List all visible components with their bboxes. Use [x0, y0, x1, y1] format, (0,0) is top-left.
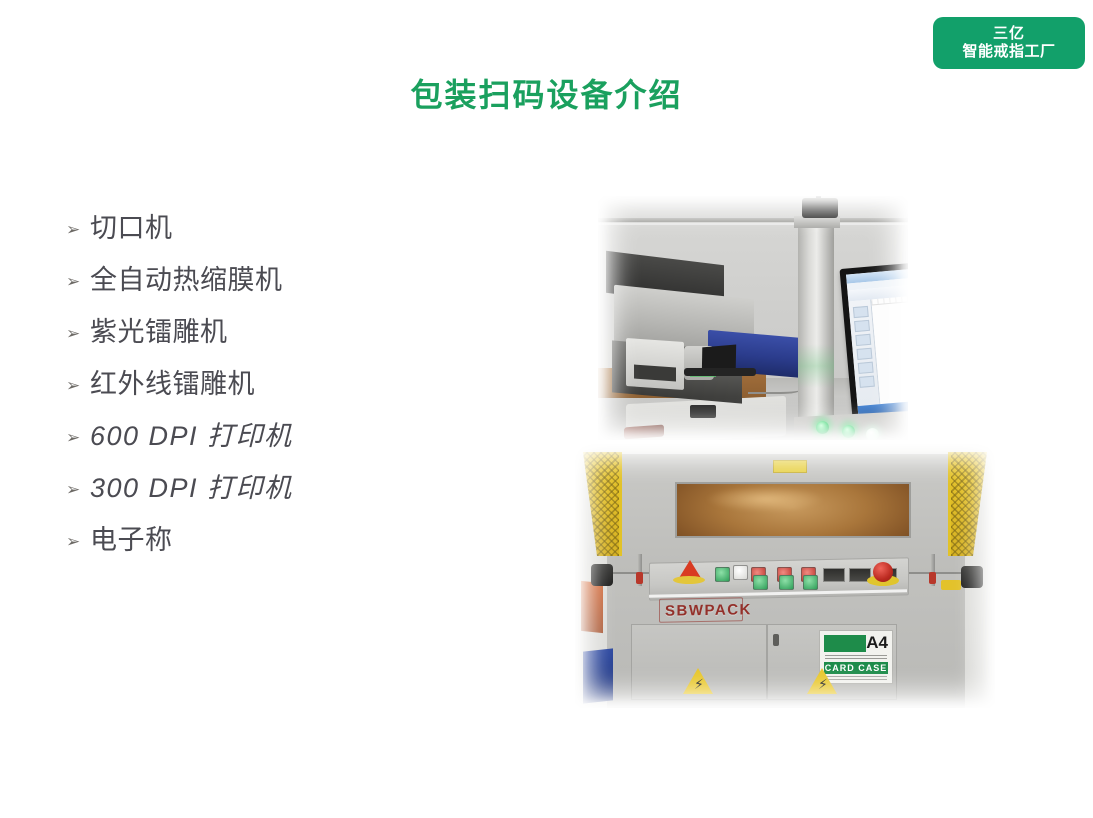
photo-panel-swatch — [859, 376, 875, 388]
electrical-hazard-icon: ⚡ — [683, 668, 713, 694]
chevron-right-icon: ➢ — [60, 377, 90, 394]
photo-panel-swatch — [855, 334, 871, 346]
list-item-label: 红外线镭雕机 — [90, 369, 255, 400]
photo-blue-crate — [583, 648, 613, 703]
photo-indicator-light — [816, 421, 829, 434]
photo-vertical-column — [798, 224, 834, 440]
photo-indicator-light — [866, 428, 879, 440]
chevron-right-icon: ➢ — [60, 533, 90, 550]
list-item: ➢ 紫光镭雕机 — [60, 307, 530, 359]
photo-emergency-stop-button — [873, 562, 893, 582]
list-item: ➢ 300 DPI 打印机 — [60, 463, 530, 515]
list-item: ➢ 600 DPI 打印机 — [60, 411, 530, 463]
chevron-right-icon: ➢ — [60, 481, 90, 498]
photo-red-beacon-base — [673, 576, 705, 584]
photo-orange-object — [581, 581, 603, 633]
lightning-bolt-glyph: ⚡ — [818, 677, 828, 691]
list-item-label: 600 DPI 打印机 — [90, 421, 293, 452]
photo-cable — [748, 382, 802, 394]
equipment-list: ➢ 切口机 ➢ 全自动热缩膜机 ➢ 紫光镭雕机 ➢ 红外线镭雕机 ➢ 600 D… — [60, 203, 530, 567]
photo-shrink-wrap-machine: SBWPACK A4 CARD CASE ⚡ ⚡ — [575, 444, 995, 708]
photo-push-button — [715, 567, 730, 582]
photo-yellow-tab — [941, 580, 961, 590]
photo-black-object — [690, 405, 716, 418]
list-item-label: 切口机 — [90, 213, 173, 244]
photo-laser-marking-machine — [598, 196, 908, 440]
page-title: 包装扫码设备介绍 — [0, 70, 1093, 116]
photo-push-button — [803, 575, 818, 590]
photo-cabinet-handle — [773, 634, 779, 646]
photo-panel-swatch — [854, 320, 870, 332]
photo-label-size-text: A4 — [866, 634, 888, 652]
photo-warning-label-yellow — [773, 460, 807, 473]
list-item: ➢ 切口机 — [60, 203, 530, 255]
photo-camera-module — [802, 198, 838, 218]
list-item: ➢ 红外线镭雕机 — [60, 359, 530, 411]
photo-side-knob-left — [591, 564, 613, 586]
chevron-right-icon: ➢ — [60, 325, 90, 342]
list-item-label: 全自动热缩膜机 — [90, 265, 283, 296]
photo-panel-swatch — [853, 306, 869, 318]
list-item: ➢ 电子称 — [60, 515, 530, 567]
photo-wall-trim-highlight — [598, 223, 908, 225]
photo-panel-swatch — [858, 362, 874, 374]
list-item-label: 紫光镭雕机 — [90, 317, 228, 348]
lightning-bolt-glyph: ⚡ — [694, 677, 704, 691]
photo-digital-display — [823, 568, 845, 582]
photo-label-text-lines — [825, 655, 887, 661]
logo-company-name: 三亿 — [993, 25, 1025, 43]
photo-guide-rod-grip-right — [929, 572, 936, 584]
photo-panel-swatch — [857, 348, 873, 360]
photo-column-reflection — [798, 344, 834, 388]
chevron-right-icon: ➢ — [60, 273, 90, 290]
photo-wall-trim — [598, 218, 908, 222]
list-item-label: 300 DPI 打印机 — [90, 473, 293, 504]
photo-push-button — [753, 575, 768, 590]
list-item: ➢ 全自动热缩膜机 — [60, 255, 530, 307]
electrical-hazard-icon: ⚡ — [807, 668, 837, 694]
chevron-right-icon: ➢ — [60, 221, 90, 238]
photo-indicator-light — [842, 425, 855, 438]
logo-subtitle: 智能戒指工厂 — [962, 43, 1055, 61]
photo-label-green-band — [824, 635, 866, 652]
photo-push-button — [779, 575, 794, 590]
chevron-right-icon: ➢ — [60, 429, 90, 446]
photo-monitor-screen — [846, 254, 908, 416]
photo-push-button — [733, 565, 748, 580]
photo-laser-head-slot — [634, 365, 676, 382]
photo-brand-logo-text: SBWPACK — [665, 601, 752, 620]
photo-monitor-base — [684, 368, 756, 376]
photo-side-knob-right — [961, 566, 983, 588]
company-logo-badge: 三亿 智能戒指工厂 — [933, 17, 1085, 69]
photo-tunnel-glow — [705, 486, 825, 512]
list-item-label: 电子称 — [90, 525, 173, 556]
photo-guide-rod-grip-left — [636, 572, 643, 584]
